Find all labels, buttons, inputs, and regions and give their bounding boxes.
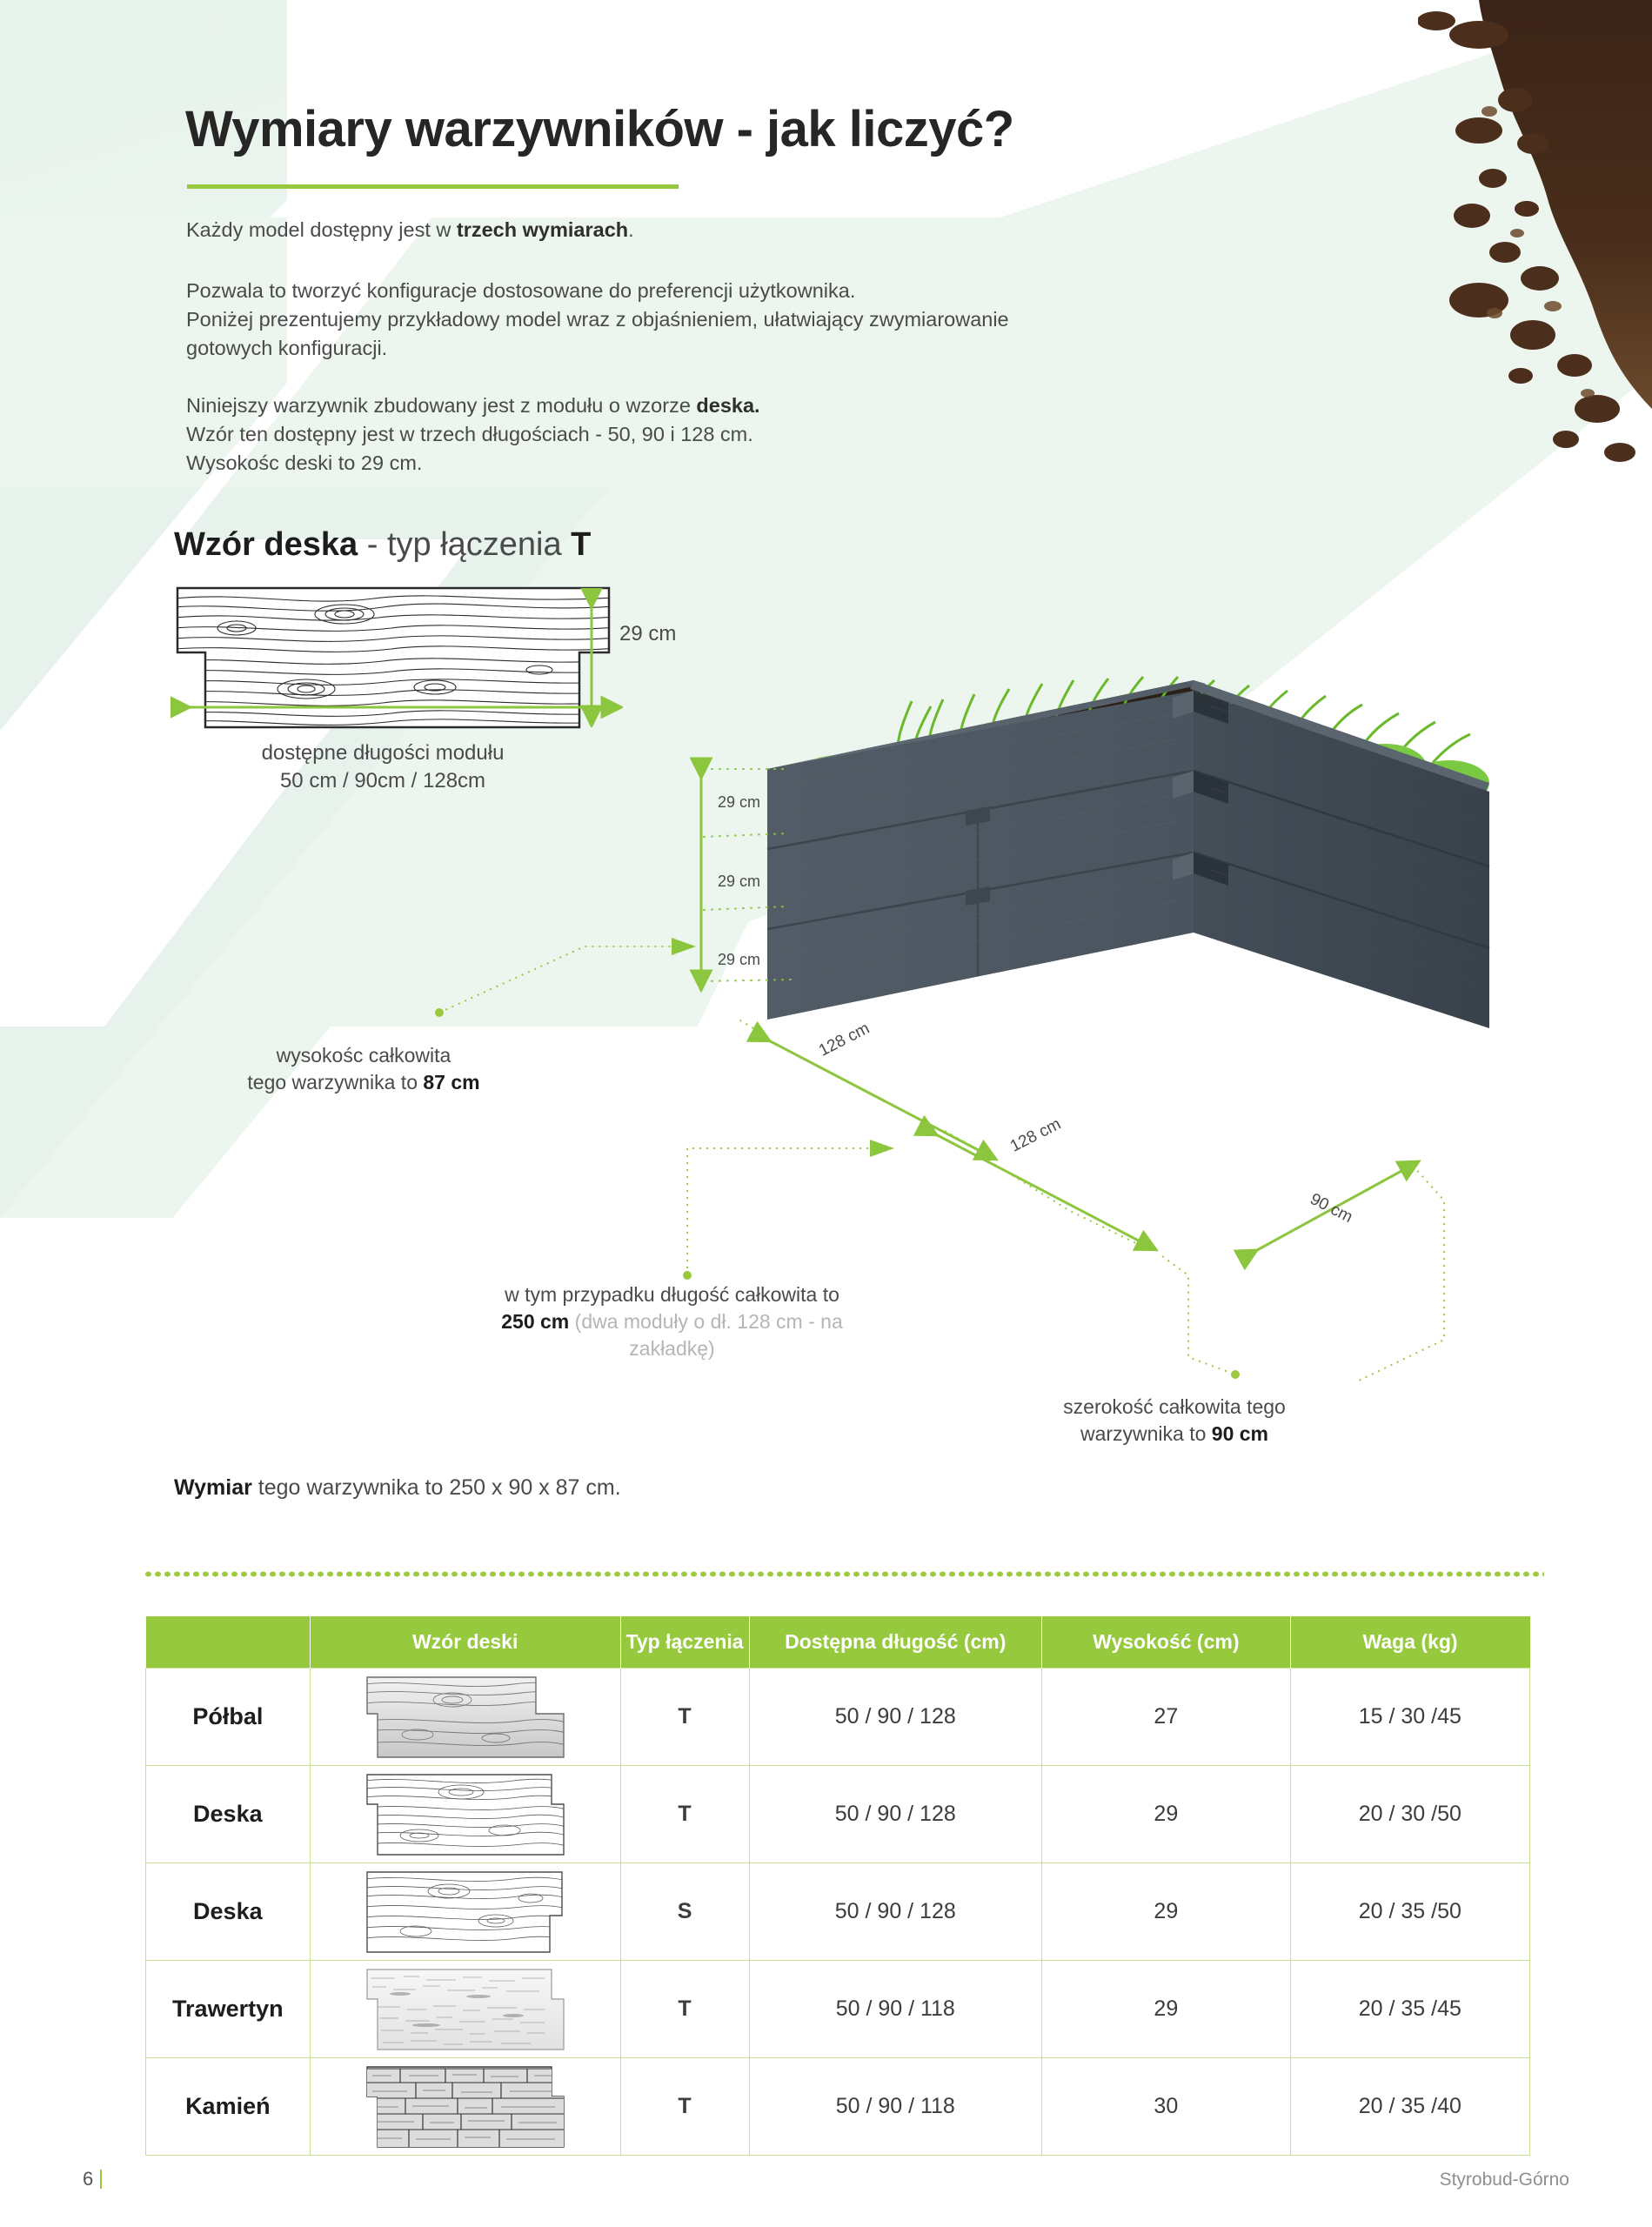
row-height: 29	[1042, 1961, 1291, 2058]
dotted-separator	[144, 1570, 1544, 1578]
callout-total-length: w tym przypadku długość całkowita to 250…	[492, 1281, 853, 1362]
row-weight: 20 / 30 /50	[1290, 1766, 1529, 1863]
callout-width-prefix: warzywnika to	[1080, 1422, 1212, 1445]
row-length: 50 / 90 / 118	[749, 2058, 1042, 2156]
callout-total-width: szerokość całkowita tego warzywnika to 9…	[987, 1394, 1361, 1448]
row-join: S	[620, 1863, 749, 1961]
row-name: Kamień	[146, 2058, 311, 2156]
page-number-value: 6	[83, 2168, 93, 2190]
row-join: T	[620, 1669, 749, 1766]
row-name: Półbal	[146, 1669, 311, 1766]
table-header-weight: Waga (kg)	[1290, 1616, 1529, 1669]
summary-rest: tego warzywnika to 250 x 90 x 87 cm.	[252, 1475, 621, 1500]
row-weight: 15 / 30 /45	[1290, 1669, 1529, 1766]
callout-length-note: (dwa moduły o dł. 128 cm - na zakładkę)	[569, 1310, 842, 1360]
deska-t-board-icon	[310, 1766, 620, 1863]
table-header-join: Typ łączenia	[620, 1616, 749, 1669]
callout-width-value: 90 cm	[1212, 1422, 1268, 1445]
row-height: 29	[1042, 1766, 1291, 1863]
table-row: Trawertyn	[146, 1961, 1530, 2058]
table-header-row: Wzór deski Typ łączenia Dostępna długość…	[146, 1616, 1530, 1669]
summary-bold: Wymiar	[174, 1475, 252, 1500]
callout-height-line2: tego warzywnika to 87 cm	[177, 1069, 551, 1096]
row-height: 29	[1042, 1863, 1291, 1961]
row-height: 27	[1042, 1669, 1291, 1766]
row-name: Deska	[146, 1766, 311, 1863]
row-name: Trawertyn	[146, 1961, 311, 2058]
module-height-label-2: 29 cm	[718, 873, 760, 891]
callout-height-line1: wysokośc całkowita	[177, 1042, 551, 1069]
callout-height-prefix: tego warzywnika to	[247, 1071, 423, 1093]
depth-arrow-front	[929, 1131, 1148, 1246]
table-row: Deska	[146, 1766, 1530, 1863]
callout-length-prefix: całkowita to	[735, 1283, 839, 1306]
callout-height-value: 87 cm	[423, 1071, 479, 1093]
deska-s-board-icon	[310, 1863, 620, 1961]
callout-width-line2: warzywnika to 90 cm	[987, 1421, 1361, 1448]
kamien-board-icon	[310, 2058, 620, 2156]
row-weight: 20 / 35 /45	[1290, 1961, 1529, 2058]
callout-length-value: 250 cm	[501, 1310, 569, 1333]
depth-arrow-back	[762, 1037, 988, 1155]
table-row: Deska	[146, 1863, 1530, 1961]
page-number: 6	[83, 2168, 102, 2190]
board-spec-table: Wzór deski Typ łączenia Dostępna długość…	[145, 1616, 1530, 2156]
row-name: Deska	[146, 1863, 311, 1961]
row-length: 50 / 90 / 128	[749, 1863, 1042, 1961]
module-height-label-1: 29 cm	[718, 793, 760, 812]
row-length: 50 / 90 / 128	[749, 1766, 1042, 1863]
footer-brand: Styrobud-Górno	[1440, 2170, 1569, 2190]
row-height: 30	[1042, 2058, 1291, 2156]
table-header-blank	[146, 1616, 311, 1669]
row-length: 50 / 90 / 128	[749, 1669, 1042, 1766]
row-join: T	[620, 1961, 749, 2058]
row-weight: 20 / 35 /40	[1290, 2058, 1529, 2156]
row-join: T	[620, 2058, 749, 2156]
table-row: Półbal	[146, 1669, 1530, 1766]
callout-width-line1: szerokość całkowita tego	[987, 1394, 1361, 1421]
polbal-board-icon	[310, 1669, 620, 1766]
page-number-rule	[100, 2170, 102, 2189]
row-length: 50 / 90 / 118	[749, 1961, 1042, 2058]
table-row: Kamień	[146, 2058, 1530, 2156]
callout-total-height: wysokośc całkowita tego warzywnika to 87…	[177, 1042, 551, 1096]
table-header-pattern: Wzór deski	[310, 1616, 620, 1669]
module-height-label-3: 29 cm	[718, 951, 760, 969]
table-header-length: Dostępna długość (cm)	[749, 1616, 1042, 1669]
row-join: T	[620, 1766, 749, 1863]
table-header-height: Wysokość (cm)	[1042, 1616, 1291, 1669]
callout-length-line1: w tym przypadku długość	[505, 1283, 729, 1306]
trawertyn-board-icon	[310, 1961, 620, 2058]
summary-line: Wymiar tego warzywnika to 250 x 90 x 87 …	[174, 1475, 621, 1501]
row-weight: 20 / 35 /50	[1290, 1863, 1529, 1961]
